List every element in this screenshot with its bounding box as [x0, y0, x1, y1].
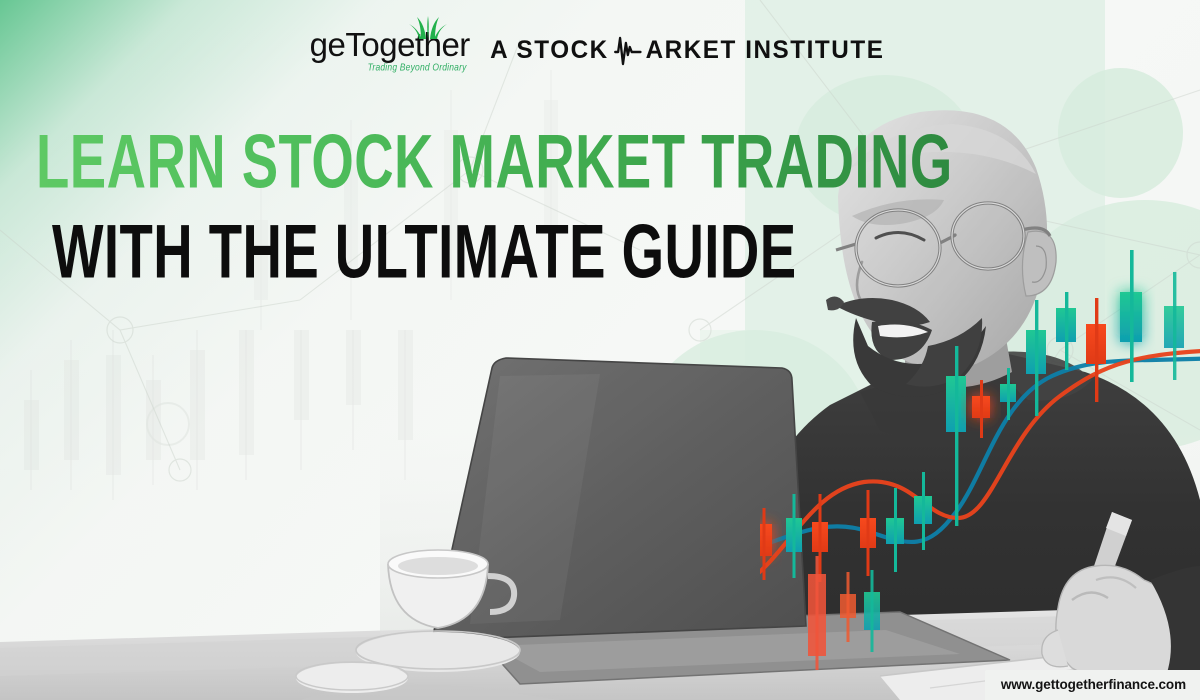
promo-banner: geTogether Trading Beyond Ordinary A STO…	[0, 0, 1200, 700]
candlestick-chart-overlay	[760, 250, 1200, 670]
getogether-logo[interactable]: geTogether Trading Beyond Ordinary	[310, 28, 470, 72]
headline-line-1: LEARN STOCK MARKET TRADING	[36, 125, 953, 201]
website-url-badge[interactable]: www.gettogetherfinance.com	[985, 670, 1200, 700]
sprout-leaves-icon	[406, 15, 450, 39]
heartbeat-pulse-icon	[613, 33, 642, 67]
brand-header: geTogether Trading Beyond Ordinary A STO…	[0, 28, 1200, 72]
logo-tagline: Trading Beyond Ordinary	[368, 61, 467, 73]
institute-tagline: A STOCK ARKET INSTITUTE	[490, 33, 884, 67]
institute-text-post: ARKET INSTITUTE	[645, 36, 884, 65]
institute-text-pre: A STOCK	[490, 36, 609, 65]
